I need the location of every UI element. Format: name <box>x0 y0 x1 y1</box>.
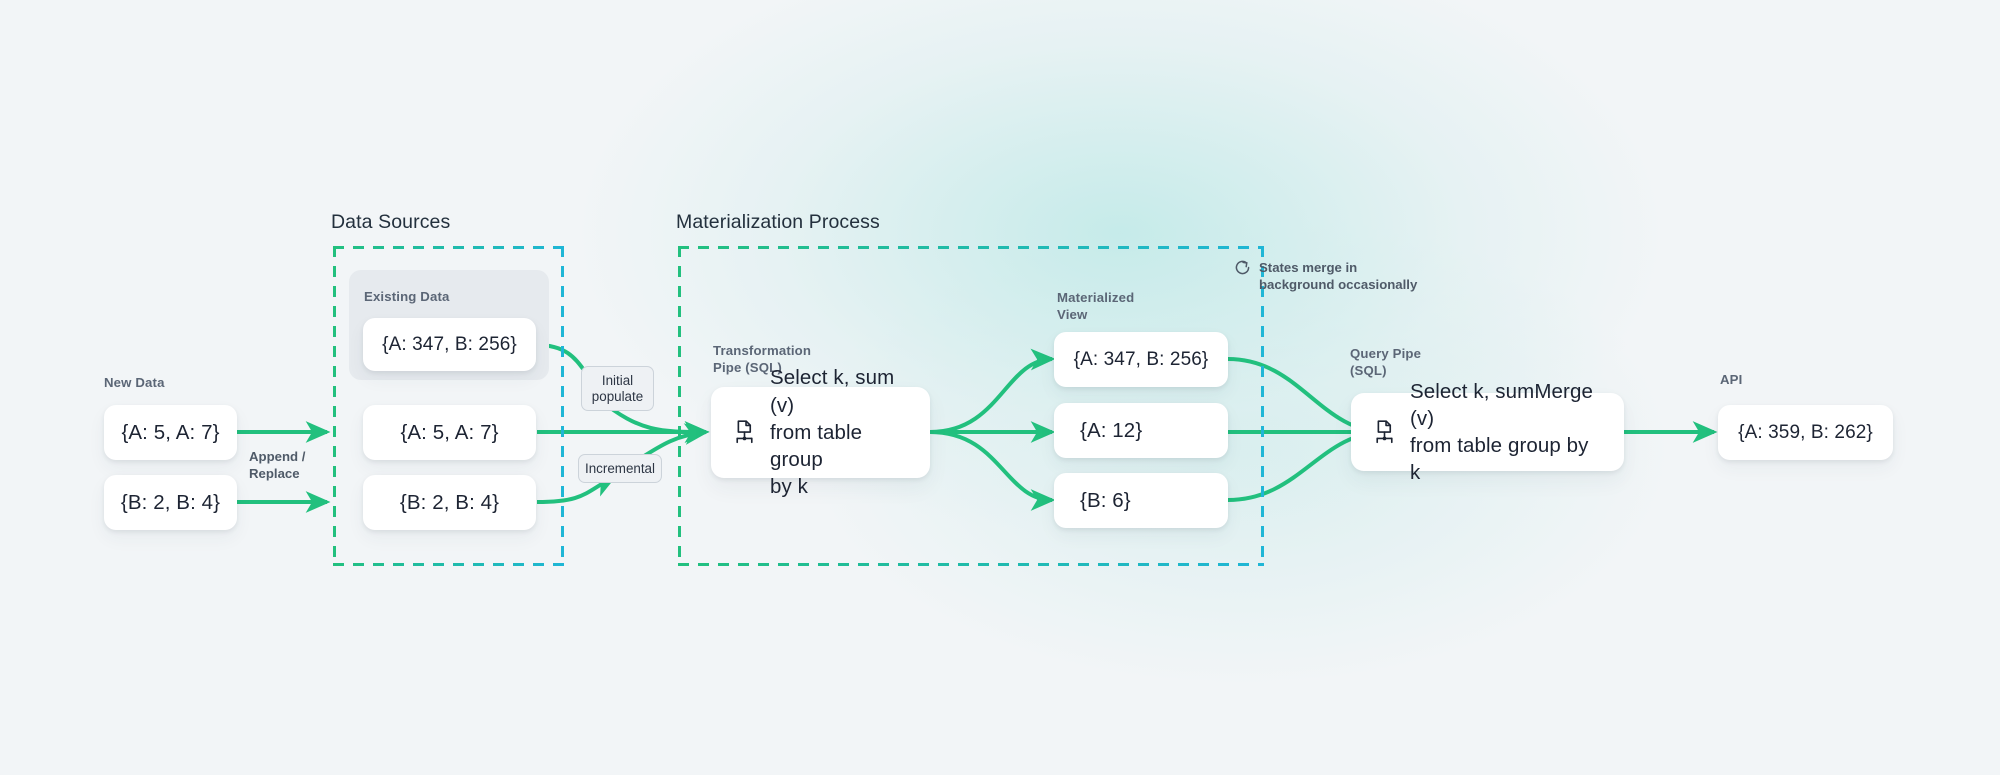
api-card[interactable]: {A: 359, B: 262} <box>1718 405 1893 460</box>
section-title-materialization: Materialization Process <box>676 211 880 234</box>
group-label-query-pipe: Query Pipe (SQL) <box>1350 346 1421 380</box>
zone-mz-edge-top <box>678 246 1264 249</box>
existing-data-card-1[interactable]: {A: 347, B: 256} <box>363 318 536 371</box>
connector-label-append-replace: Append / Replace <box>249 448 305 482</box>
zone-ds-edge-left <box>333 246 336 566</box>
query-pipe-card[interactable]: Select k, sumMerge (v) from table group … <box>1351 393 1624 471</box>
merge-note: States merge in background occasionally <box>1233 258 1417 293</box>
group-label-materialized-view: Materialized View <box>1057 290 1134 324</box>
group-label-existing-data: Existing Data <box>364 289 450 306</box>
diagram-canvas: Data Sources Materialization Process New… <box>0 0 2000 775</box>
zone-mz-edge-right <box>1261 246 1264 566</box>
pill-initial-populate[interactable]: Initial populate <box>581 366 654 411</box>
zone-ds-edge-right <box>561 246 564 566</box>
section-title-data-sources: Data Sources <box>331 211 450 234</box>
pipe-icon <box>1373 420 1396 445</box>
refresh-rotate-icon <box>1233 258 1252 277</box>
zone-mz-edge-bottom <box>678 563 1264 566</box>
materialized-view-card-1[interactable]: {A: 347, B: 256} <box>1054 332 1228 387</box>
zone-mz-edge-left <box>678 246 681 566</box>
data-source-row-2[interactable]: {B: 2, B: 4} <box>363 475 536 530</box>
transformation-pipe-card[interactable]: Select k, sum (v) from table group by k <box>711 387 930 478</box>
query-pipe-sql: Select k, sumMerge (v) from table group … <box>1410 378 1602 487</box>
zone-ds-edge-top <box>333 246 564 249</box>
merge-note-text: States merge in background occasionally <box>1259 258 1417 293</box>
group-label-api: API <box>1720 372 1742 389</box>
zone-ds-edge-bottom <box>333 563 564 566</box>
pipe-icon <box>733 420 756 445</box>
group-label-new-data: New Data <box>104 375 165 392</box>
transformation-pipe-sql: Select k, sum (v) from table group by k <box>770 364 908 500</box>
materialized-view-card-3[interactable]: {B: 6} <box>1054 473 1228 528</box>
materialized-view-card-2[interactable]: {A: 12} <box>1054 403 1228 458</box>
data-source-row-1[interactable]: {A: 5, A: 7} <box>363 405 536 460</box>
new-data-card-2[interactable]: {B: 2, B: 4} <box>104 475 237 530</box>
pill-incremental[interactable]: Incremental <box>578 454 662 483</box>
new-data-card-1[interactable]: {A: 5, A: 7} <box>104 405 237 460</box>
